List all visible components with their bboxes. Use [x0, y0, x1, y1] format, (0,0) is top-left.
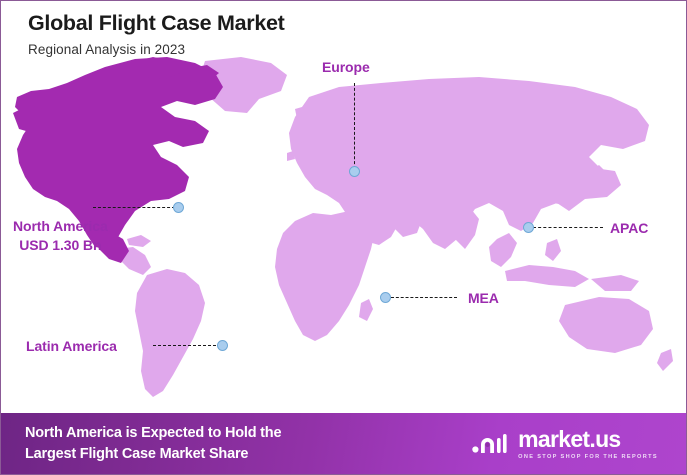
marker-dot-mea[interactable]	[380, 292, 391, 303]
footer-headline: North America is Expected to Hold the La…	[25, 423, 281, 464]
leader-line-latin-america	[153, 345, 221, 346]
region-label-mea: MEA	[468, 289, 499, 308]
region-label-latin-america: Latin America	[26, 337, 117, 356]
australia	[559, 297, 653, 353]
market-us-logo-icon	[472, 429, 510, 459]
footer-banner: North America is Expected to Hold the La…	[1, 413, 686, 474]
footer-headline-line1: North America is Expected to Hold the	[25, 423, 281, 444]
new-zealand	[657, 349, 673, 371]
new-guinea	[591, 275, 639, 291]
leader-line-europe	[354, 83, 355, 169]
region-value-north-america: USD 1.30 Bn	[13, 236, 108, 255]
marker-dot-latin-america[interactable]	[217, 340, 228, 351]
south-america	[135, 269, 205, 397]
page-subtitle: Regional Analysis in 2023	[28, 42, 285, 57]
marker-dot-apac[interactable]	[523, 222, 534, 233]
indonesia	[505, 265, 589, 287]
caribbean	[127, 235, 151, 247]
marker-dot-north-america[interactable]	[173, 202, 184, 213]
logo-text-block: market.us ONE STOP SHOP FOR THE REPORTS	[518, 428, 658, 460]
region-label-apac: APAC	[610, 219, 648, 238]
madagascar	[359, 299, 373, 321]
region-name-mea: MEA	[468, 290, 499, 306]
leader-line-north-america	[93, 207, 175, 208]
africa	[275, 211, 375, 341]
brand-logo[interactable]: market.us ONE STOP SHOP FOR THE REPORTS	[472, 428, 658, 460]
marker-dot-europe[interactable]	[349, 166, 360, 177]
map-area: Global Flight Case Market Regional Analy…	[1, 1, 686, 413]
page-title: Global Flight Case Market	[28, 11, 285, 36]
southeast-asia	[489, 233, 517, 267]
philippines	[545, 239, 561, 261]
footer-headline-line2: Largest Flight Case Market Share	[25, 444, 281, 465]
leader-line-mea	[391, 297, 457, 298]
region-label-north-america: North America USD 1.30 Bn	[13, 217, 108, 255]
logo-tagline: ONE STOP SHOP FOR THE REPORTS	[518, 454, 658, 460]
region-name-latin-america: Latin America	[26, 338, 117, 354]
infographic-card: Global Flight Case Market Regional Analy…	[0, 0, 687, 475]
title-block: Global Flight Case Market Regional Analy…	[28, 11, 285, 57]
leader-line-apac	[533, 227, 603, 228]
region-name-north-america: North America	[13, 217, 108, 236]
logo-wordmark: market.us	[518, 428, 658, 451]
region-name-apac: APAC	[610, 220, 648, 236]
region-name-europe: Europe	[322, 59, 370, 75]
region-label-europe: Europe	[322, 58, 370, 77]
